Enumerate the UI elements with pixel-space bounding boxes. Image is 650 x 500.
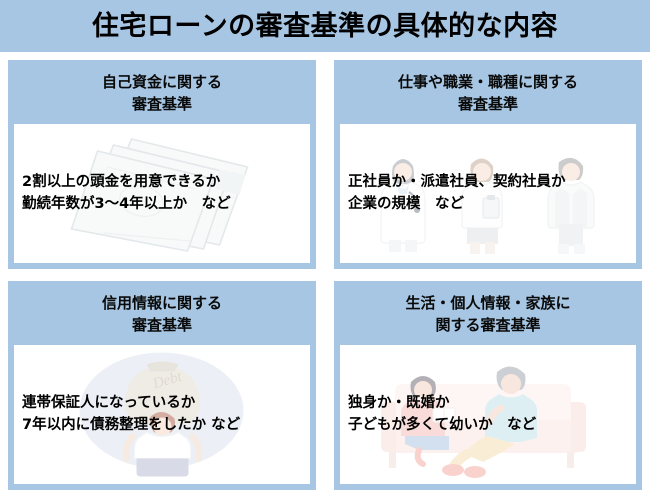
card-header-line: 関する審査基準 bbox=[344, 315, 632, 337]
card-header-own-funds: 自己資金に関する 審査基準 bbox=[14, 66, 310, 124]
card-text-own-funds: 2割以上の頭金を用意できるか 勤続年数が3〜4年以上か など bbox=[14, 171, 310, 216]
card-text-line: 独身か・既婚か bbox=[348, 392, 628, 414]
card-header-life-family: 生活・個人情報・家族に 関する審査基準 bbox=[340, 287, 636, 345]
card-text-life-family: 独身か・既婚か 子どもが多くて幼いか など bbox=[340, 392, 636, 437]
card-header-line: 生活・個人情報・家族に bbox=[344, 293, 632, 315]
card-text-line: 子どもが多くて幼いか など bbox=[348, 414, 628, 436]
criteria-card-occupation: 仕事や職業・職種に関する 審査基準 bbox=[334, 60, 642, 269]
criteria-card-credit-info: 信用情報に関する 審査基準 Debt bbox=[8, 281, 316, 490]
card-body-own-funds: 2割以上の頭金を用意できるか 勤続年数が3〜4年以上か など bbox=[14, 124, 310, 264]
title-band: 住宅ローンの審査基準の具体的な内容 bbox=[0, 0, 650, 52]
card-text-credit-info: 連帯保証人になっているか 7年以内に債務整理をしたか など bbox=[14, 392, 310, 437]
card-header-line: 審査基準 bbox=[18, 315, 306, 337]
card-header-occupation: 仕事や職業・職種に関する 審査基準 bbox=[340, 66, 636, 124]
card-text-line: 7年以内に債務整理をしたか など bbox=[22, 414, 302, 436]
criteria-card-own-funds: 自己資金に関する 審査基準 bbox=[8, 60, 316, 269]
card-body-occupation: 正社員か・派遣社員、契約社員か 企業の規模 など bbox=[340, 124, 636, 264]
card-text-line: 企業の規模 など bbox=[348, 193, 628, 215]
card-text-line: 連帯保証人になっているか bbox=[22, 392, 302, 414]
card-header-line: 審査基準 bbox=[344, 94, 632, 116]
card-text-line: 2割以上の頭金を用意できるか bbox=[22, 171, 302, 193]
debt-sack-label: Debt bbox=[150, 369, 184, 393]
card-text-line: 正社員か・派遣社員、契約社員か bbox=[348, 171, 628, 193]
card-header-line: 審査基準 bbox=[18, 94, 306, 116]
card-body-life-family: 独身か・既婚か 子どもが多くて幼いか など bbox=[340, 345, 636, 485]
card-header-credit-info: 信用情報に関する 審査基準 bbox=[14, 287, 310, 345]
card-header-line: 信用情報に関する bbox=[18, 293, 306, 315]
card-header-line: 自己資金に関する bbox=[18, 72, 306, 94]
criteria-card-grid: 自己資金に関する 審査基準 bbox=[8, 60, 642, 490]
card-body-credit-info: Debt 連帯保証人になっているか 7年以内に債務整理をしたか など bbox=[14, 345, 310, 485]
card-header-line: 仕事や職業・職種に関する bbox=[344, 72, 632, 94]
card-text-line: 勤続年数が3〜4年以上か など bbox=[22, 193, 302, 215]
card-text-occupation: 正社員か・派遣社員、契約社員か 企業の規模 など bbox=[340, 171, 636, 216]
page-title: 住宅ローンの審査基準の具体的な内容 bbox=[92, 13, 558, 40]
criteria-card-life-family: 生活・個人情報・家族に 関する審査基準 bbox=[334, 281, 642, 490]
infographic-canvas: 住宅ローンの審査基準の具体的な内容 自己資金に関する 審査基準 bbox=[0, 0, 650, 500]
